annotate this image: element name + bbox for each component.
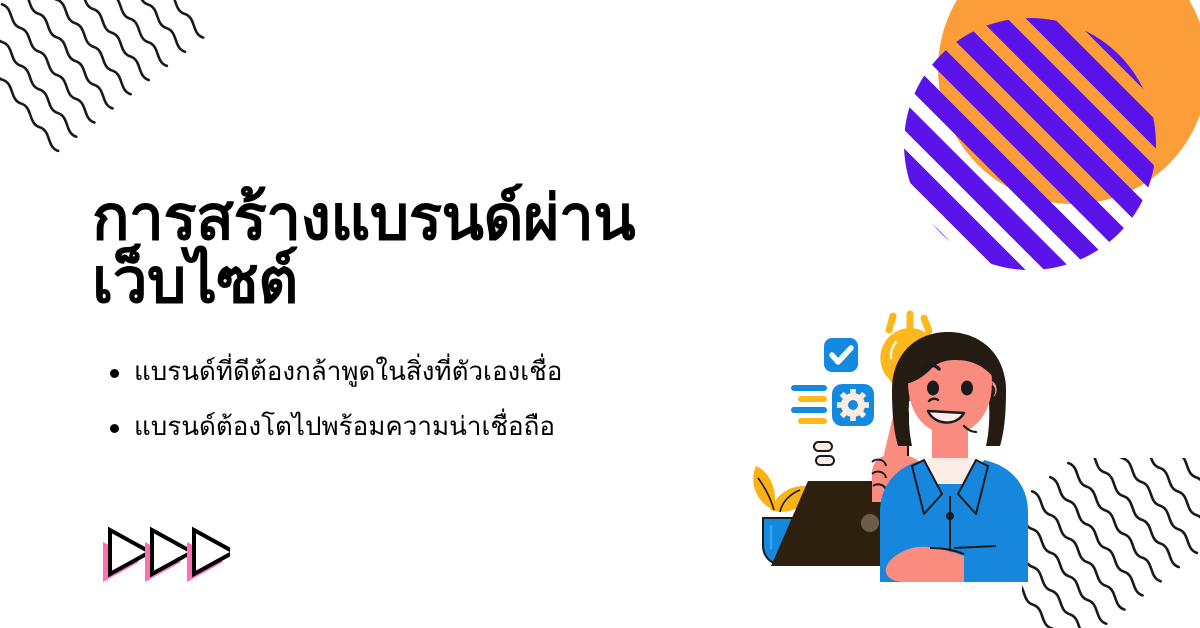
bullet-dot-icon xyxy=(110,424,119,433)
slide-canvas: การสร้างแบรนด์ผ่านเว็บไซต์ แบรนด์ที่ดีต้… xyxy=(0,0,1200,628)
list-item-label: แบรนด์ที่ดีต้องกล้าพูดในสิ่งที่ตัวเองเชื… xyxy=(134,357,562,387)
arrow-triangle-group-3 xyxy=(187,530,230,582)
list-item-label: แบรนด์ต้องโตไปพร้อมความน่าเชื่อถือ xyxy=(134,412,555,442)
arrow-triangle-group-1 xyxy=(103,530,150,582)
bullet-dot-icon xyxy=(110,369,119,378)
list-item: แบรนด์ที่ดีต้องกล้าพูดในสิ่งที่ตัวเองเชื… xyxy=(100,356,720,389)
page-title: การสร้างแบรนด์ผ่านเว็บไซต์ xyxy=(92,186,812,312)
list-item: แบรนด์ต้องโตไปพร้อมความน่าเชื่อถือ xyxy=(100,411,720,444)
diagonal-stripes-fill xyxy=(904,18,1156,270)
striped-purple-circle-decoration xyxy=(904,18,1156,270)
gear-icon xyxy=(832,384,874,426)
illustration-woman-with-laptop xyxy=(752,296,1102,596)
arrow-triangle-group-2 xyxy=(145,530,192,582)
check-box-icon xyxy=(824,338,858,372)
wavy-lines-decoration-top-left xyxy=(0,0,210,157)
bullet-list: แบรนด์ที่ดีต้องกล้าพูดในสิ่งที่ตัวเองเชื… xyxy=(100,356,720,467)
bars-icon xyxy=(794,388,824,421)
pill-shapes-icon xyxy=(814,442,834,465)
triangle-arrows-decoration xyxy=(100,524,230,586)
